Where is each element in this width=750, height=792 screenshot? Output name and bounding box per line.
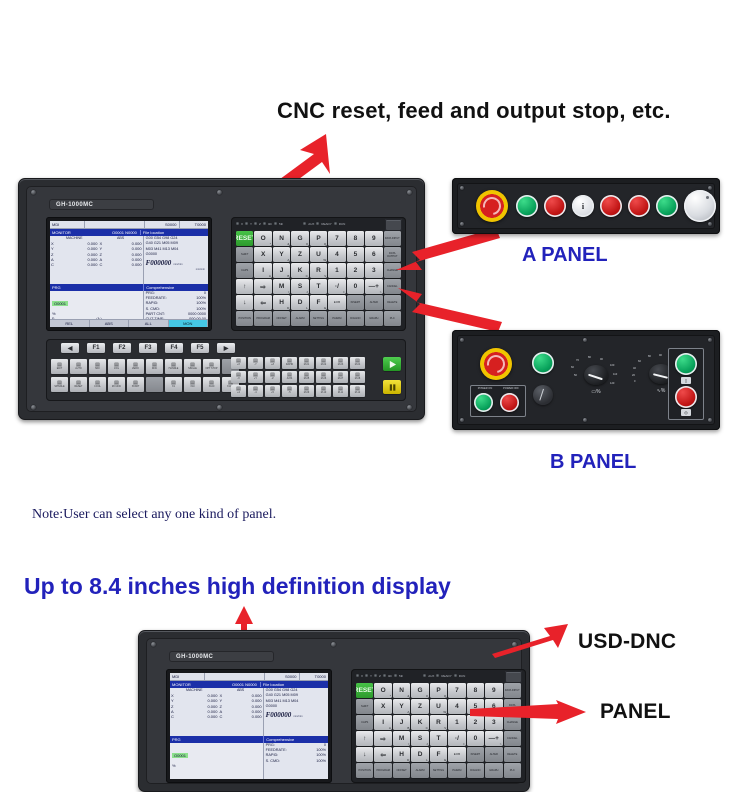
key-t[interactable]: T [310, 279, 327, 294]
info-button[interactable]: i [572, 195, 594, 217]
status-title-label: Comprehensive [146, 285, 174, 290]
key-o[interactable]: O* [374, 683, 391, 698]
key-shift[interactable]: SHIFT [356, 699, 373, 714]
key-label: Z [298, 251, 302, 258]
mfunc-row-mid: ▤M-05▤M-06▤M-07▤M-08 [299, 371, 365, 383]
key-eob[interactable]: EOB [328, 295, 345, 310]
key-insert[interactable]: INSERT [467, 747, 484, 762]
key-label: SPINDLE [54, 386, 64, 389]
key-mdi[interactable]: ▤MDI [89, 359, 106, 374]
key-3[interactable]: 3 [365, 263, 382, 278]
key-0[interactable]: 0 [467, 731, 484, 746]
key-g[interactable]: G# [291, 231, 308, 246]
key-label: 8 [474, 687, 478, 694]
key-diagno[interactable]: DIAGNO [347, 311, 364, 326]
keypad-led-strip: X Y Z 4th 5th AUX READY RUN [236, 220, 401, 227]
key-graph[interactable]: GRAPH [485, 763, 502, 778]
key-o[interactable]: O* [254, 231, 271, 246]
key-g[interactable]: G# [411, 683, 428, 698]
status-label: S. CMD: [266, 759, 280, 764]
fkey-next[interactable]: ▶ [217, 343, 235, 353]
keypad-grid-bottom: RESETO*N&G#PQ789DATA INPUTSHIFTXYAZUW456… [356, 683, 521, 778]
key-label: ALARM [296, 317, 305, 320]
key-reset[interactable]: RESET [236, 231, 253, 246]
key-m-03[interactable]: ▤M-03 [333, 357, 348, 369]
key-offset[interactable]: OFFSET [393, 763, 410, 778]
key-n[interactable]: N& [393, 683, 410, 698]
key-h[interactable]: HD [273, 295, 290, 310]
key-x[interactable]: ▤-X [231, 371, 246, 383]
key-k[interactable]: KC [411, 715, 428, 730]
key-4[interactable]: 4 [328, 247, 345, 262]
key-label: D [418, 751, 423, 758]
screw-b-top-mid [331, 642, 336, 647]
feed-hold-button[interactable] [383, 380, 401, 394]
power-off-label: POWER OFF [499, 387, 523, 390]
power-on-button[interactable] [474, 393, 493, 412]
feed-dial-pointer [653, 373, 668, 378]
key-i[interactable]: IA [374, 715, 391, 730]
key-position[interactable]: POSITION [356, 763, 373, 778]
key-handle[interactable]: ▤HANDLE [165, 359, 182, 374]
key-label: H [279, 299, 284, 306]
mfunc-row-top: ▤M-01▤M-02▤M-03▤M-04 [299, 357, 365, 369]
key-8[interactable]: 8 [467, 683, 484, 698]
key-sublabel: V [444, 726, 446, 730]
fkey-f3[interactable]: F3 [139, 343, 157, 353]
key-label: CAPS [361, 721, 368, 724]
key-[interactable]: ⇦ [254, 295, 271, 310]
machine-value: 0.000 [184, 714, 219, 719]
fkey-f4[interactable]: F4 [165, 343, 183, 353]
screw-panel-b-tm [583, 338, 587, 342]
key-[interactable]: ↓ [356, 747, 373, 762]
key-5[interactable]: ▤+5 [265, 385, 280, 397]
key-alter[interactable]: ALTER [365, 295, 382, 310]
led-label: RUN [339, 222, 346, 226]
reset-button[interactable] [600, 195, 622, 217]
key-m-09[interactable]: ▤M-09 [299, 385, 314, 397]
key-dnc[interactable]: ▤DNC [146, 359, 163, 374]
screw-panel-a-tl [460, 186, 464, 190]
key-5[interactable]: ▤-5 [282, 385, 297, 397]
key-7[interactable]: 7 [328, 231, 345, 246]
usb-dnc-port-bottom[interactable] [505, 671, 522, 683]
rapid-dial-caption: ▭% [570, 389, 622, 395]
lcd-screen: MDI S0000 T0000 MONITOR O0001 N0000 File… [50, 221, 208, 327]
key-s[interactable]: SJ [411, 731, 428, 746]
key-label: G [418, 687, 423, 694]
key-u[interactable]: UW [430, 699, 447, 714]
key-edit[interactable]: ▤EDIT [51, 359, 68, 374]
key-label: ⇨ [380, 735, 385, 743]
mode-row-mid: ▤EDIT▤AUTO▤MDI▤JOG▤ZERO▤DNC▤HANDLE▤SINGL… [51, 359, 239, 374]
key-jog[interactable]: ▤JOG [108, 359, 125, 374]
key-setting[interactable]: SETTING [430, 763, 447, 778]
fkey-row-top: ◀ F1 F2 F3 F4 F5 ▶ [61, 343, 235, 353]
key-data-input[interactable]: DATA INPUT [504, 683, 521, 698]
axis-label: C [218, 714, 231, 719]
mode-row-bot: ▤SPINDLE▤RESET▤COOL▤M FUNC▤START▤X1▤X10▤… [51, 377, 239, 392]
key-m-02[interactable]: ▤M-02 [316, 357, 331, 369]
program-text-bottom: % [170, 763, 263, 768]
key-label: ·/ [335, 283, 339, 290]
key-u[interactable]: UW [310, 247, 327, 262]
key-label: RESET [356, 687, 373, 694]
key-insert[interactable]: INSERT [347, 295, 364, 310]
key-label: M-12 [355, 392, 360, 395]
key-switch[interactable] [533, 385, 553, 405]
led-label: 4th [388, 674, 392, 678]
dial-tick: 110 [613, 373, 617, 376]
info-icon: i [582, 202, 584, 211]
key-alarm[interactable]: ALARM [411, 763, 428, 778]
key-1[interactable]: 1 [328, 263, 345, 278]
key-label: N [279, 235, 284, 242]
key-s[interactable]: SJ [291, 279, 308, 294]
key-m-04[interactable]: ▤M-04 [350, 357, 365, 369]
key-label: 4 [455, 703, 459, 710]
key-label: CAPS [241, 269, 248, 272]
key-label: M [279, 283, 284, 290]
output-stop-button[interactable] [628, 195, 650, 217]
screen-top-bar: MDI S0000 T0000 [50, 221, 208, 229]
key-rapid[interactable]: ▤RAPID [282, 357, 297, 369]
dial-tick: 90 [659, 354, 662, 357]
key-r[interactable]: RV [310, 263, 327, 278]
rapid-override-dial[interactable]: 50 60 70 80 90 100 110 120 ▭% [570, 356, 622, 402]
fkey-f2[interactable]: F2 [113, 343, 131, 353]
key-alarm[interactable]: ALARM [291, 311, 308, 326]
key-sublabel: & [407, 694, 409, 698]
key-label: 9 [372, 235, 376, 242]
key-label: X100 [209, 386, 215, 389]
key-0[interactable]: 0 [347, 279, 364, 294]
led-label: 5th [279, 222, 283, 226]
key-[interactable]: —+> [485, 731, 502, 746]
key-label: U [316, 251, 321, 258]
key-label: ALARM [416, 769, 425, 772]
key-[interactable]: ↑ [236, 279, 253, 294]
panel-b-red-button[interactable] [675, 386, 697, 408]
key-h[interactable]: HD [393, 747, 410, 762]
screw-panel-b-bl [460, 418, 464, 422]
key-delete[interactable]: DELETE [504, 747, 521, 762]
screw-bottom-mid [217, 405, 222, 410]
key-zero[interactable]: ▤ZERO [127, 359, 144, 374]
selector-knob[interactable] [684, 190, 716, 222]
screw-panel-b-bm [583, 418, 587, 422]
key-label: EOB [334, 301, 340, 304]
key-9[interactable]: 9 [485, 683, 502, 698]
key-axis[interactable]: ▤AXIS [282, 371, 297, 383]
key-label: F [317, 299, 321, 306]
screw-panel-b-tr [708, 338, 712, 342]
key-[interactable]: ·/= [328, 279, 345, 294]
key-k[interactable]: KC [291, 263, 308, 278]
key-opt-stop[interactable]: ▤OPT STOP [203, 359, 220, 374]
key-6[interactable]: 6 [365, 247, 382, 262]
key-label: M-11 [338, 392, 343, 395]
key-t[interactable]: T [430, 731, 447, 746]
fkey-prev[interactable]: ◀ [61, 343, 79, 353]
stop-button[interactable] [544, 195, 566, 217]
key-auto[interactable]: ▤AUTO [70, 359, 87, 374]
key-m-10[interactable]: ▤M-10 [316, 385, 331, 397]
key-4[interactable]: ▤-4 [248, 385, 263, 397]
screw-panel-a-br [708, 222, 712, 226]
key-reset[interactable]: ▤RESET [70, 377, 87, 392]
key-m-05[interactable]: ▤M-05 [299, 371, 314, 383]
jog-row-top: ▤+X▤-Y▤+Z▤RAPID [231, 357, 297, 369]
key-sublabel: # [426, 694, 428, 698]
key-z[interactable]: Z [291, 247, 308, 262]
key-label: -4 [254, 392, 256, 395]
key-label: -Y [254, 364, 256, 367]
dial-tick: 0 [634, 380, 635, 383]
key-r[interactable]: RV [430, 715, 447, 730]
key-position[interactable]: POSITION [236, 311, 253, 326]
key-single[interactable]: ▤SINGLE [184, 359, 201, 374]
gcode-panel-bottom: G00 G54 G98 G24 G40 G21 M05 M09 M03 M41 … [263, 688, 328, 736]
key-7[interactable]: 7 [448, 683, 465, 698]
softkey-abs[interactable]: ABS [90, 320, 130, 327]
softkey-rel[interactable]: REL [50, 320, 90, 327]
key-d[interactable]: DL [291, 295, 308, 310]
key-label: M-06 [321, 378, 326, 381]
led-label: X [241, 222, 243, 226]
key-d[interactable]: DL [411, 747, 428, 762]
key-label: O [261, 235, 266, 242]
key-[interactable]: ·/= [448, 731, 465, 746]
start-button[interactable] [516, 195, 538, 217]
key-1[interactable]: 1 [448, 715, 465, 730]
key-program[interactable]: PROGRAM [254, 311, 271, 326]
program-file-name-bottom: O0001 [172, 753, 188, 758]
key-label: 4 [335, 251, 339, 258]
key-y[interactable]: ▤-Y [248, 357, 263, 369]
key-m-07[interactable]: ▤M-07 [333, 371, 348, 383]
lcd-bezel: MDI S0000 T0000 MONITOR O0001 N0000 File… [46, 217, 212, 331]
led-indicator [423, 674, 426, 677]
fkey-f1[interactable]: F1 [87, 343, 105, 353]
key-label: -X [237, 378, 239, 381]
key-label: DELETE [507, 753, 517, 756]
key-label: M-04 [355, 364, 360, 367]
key-alter[interactable]: ALTER [485, 747, 502, 762]
led-indicator [454, 674, 457, 677]
key-label: ⇨ [260, 283, 265, 291]
led-label: Z [379, 674, 381, 678]
panel-b-icon-2: ◎ [681, 409, 691, 416]
key-sublabel: E [324, 306, 326, 310]
operator-panel-b: POWER ON POWER OFF 50 60 70 80 90 100 11… [452, 330, 720, 430]
key-8[interactable]: 8 [347, 231, 364, 246]
key-cool[interactable]: ▤COOL [89, 377, 106, 392]
key-spindle[interactable]: ▤SPINDLE [51, 377, 68, 392]
key-label: F [437, 751, 441, 758]
key-label: M-05 [304, 378, 309, 381]
key-reset[interactable]: RESET [356, 683, 373, 698]
key-shift[interactable]: SHIFT [236, 247, 253, 262]
key-label: OFFSET [396, 769, 406, 772]
key-x1[interactable]: ▤X1 [165, 377, 182, 392]
key-label: S [298, 283, 302, 290]
rapid-dial-knob[interactable] [584, 365, 608, 385]
key-[interactable]: ↓ [236, 295, 253, 310]
key-setting[interactable]: SETTING [310, 311, 327, 326]
key-2[interactable]: 2 [347, 263, 364, 278]
key-y[interactable]: ▤+Y [248, 371, 263, 383]
key-m-func[interactable]: ▤M FUNC [108, 377, 125, 392]
key-y[interactable]: YA [273, 247, 290, 262]
axis-label: C [98, 262, 111, 267]
key-4[interactable]: 4 [448, 699, 465, 714]
mfunc-row-bot: ▤M-09▤M-10▤M-11▤M-12 [299, 385, 365, 397]
key-f[interactable]: FE [310, 295, 327, 310]
key-start[interactable]: ▤START [127, 377, 144, 392]
key-sublabel: A [389, 726, 391, 730]
key-m-01[interactable]: ▤M-01 [299, 357, 314, 369]
key-program[interactable]: PROGRAM [374, 763, 391, 778]
abs-value: 0.000 [111, 262, 142, 267]
key-label: ZERO [132, 368, 139, 371]
led-indicator [316, 222, 319, 225]
key-label: PLC [390, 317, 395, 320]
key-[interactable]: ↑ [356, 731, 373, 746]
dial-tick: 50 [574, 374, 577, 377]
key-sublabel: * [270, 242, 271, 246]
spindle-start-button[interactable] [532, 352, 554, 374]
model-brand-plate-bottom: GH-1000MC [169, 651, 274, 662]
fkey-f5[interactable]: F5 [191, 343, 209, 353]
key-label: SETTING [433, 769, 444, 772]
key-f[interactable]: FE [430, 747, 447, 762]
emergency-stop-button[interactable] [476, 190, 508, 222]
key-x10[interactable]: ▤X10 [184, 377, 201, 392]
key-offset[interactable]: OFFSET [273, 311, 290, 326]
softkey-mon[interactable]: MON [169, 320, 209, 327]
screen-spindle: S0000 [145, 221, 180, 228]
key-label: SETTING [313, 317, 324, 320]
key-p[interactable]: PQ [430, 683, 447, 698]
key-cancel[interactable]: CANCEL [504, 731, 521, 746]
feed-button[interactable] [656, 195, 678, 217]
key-sublabel: D [287, 306, 289, 310]
key-m-12[interactable]: ▤M-12 [350, 385, 365, 397]
key-m[interactable]: MI [393, 731, 410, 746]
key-[interactable]: ⇨ [374, 731, 391, 746]
led-indicator [436, 674, 439, 677]
key-graph[interactable]: GRAPH [365, 311, 382, 326]
status-panel-bottom: PRG:0 FEEDRATE:100% RAPID:100% S. CMD:10… [263, 743, 328, 779]
panel-b-green-button[interactable] [675, 353, 697, 375]
key-i[interactable]: IA [254, 263, 271, 278]
abs-value: 0.000 [231, 714, 262, 719]
dial-tick: 60 [571, 366, 574, 369]
feedrate-value-bottom: F000000 [264, 710, 294, 720]
power-off-button[interactable] [500, 393, 519, 412]
screen-top-bar-bottom: MDI S0000 T0000 [170, 673, 328, 681]
screen-title-left-bottom: MONITOR [172, 682, 191, 687]
status-title-bar-bottom: Comprehensive [263, 736, 328, 743]
dial-tick: 80 [648, 355, 651, 358]
key-j[interactable]: JB [273, 263, 290, 278]
key-y[interactable]: YA [393, 699, 410, 714]
key-z[interactable]: ▤-Z [265, 371, 280, 383]
screw-b-top-left [151, 642, 156, 647]
cycle-start-button[interactable] [383, 357, 401, 371]
jog-row-mid: ▤-X▤+Y▤-Z▤AXIS [231, 371, 297, 383]
label-usb-dnc: USD-DNC [578, 630, 676, 654]
key-sublabel: I [408, 742, 409, 746]
key-param[interactable]: PARAM [328, 311, 345, 326]
key-diagno[interactable]: DIAGNO [467, 763, 484, 778]
key-label: K [418, 719, 423, 726]
key-n[interactable]: N& [273, 231, 290, 246]
led-indicator [383, 674, 386, 677]
key-x100[interactable]: ▤X100 [203, 377, 220, 392]
key-sublabel: A [407, 710, 409, 714]
key-sublabel: A [269, 274, 271, 278]
keypad-grid: RESETO*N&G#PQ789DATA INPUTSHIFTXYAZUW456… [236, 231, 401, 326]
key-p[interactable]: PQ [310, 231, 327, 246]
screen-spindle-bottom: S0000 [265, 673, 300, 680]
softkey-all[interactable]: ALL [129, 320, 169, 327]
key-plc[interactable]: PLC [504, 763, 521, 778]
screw-panel-b-br [708, 418, 712, 422]
key-caps[interactable]: CAPS [236, 263, 253, 278]
key-m-08[interactable]: ▤M-08 [350, 371, 365, 383]
screen-softkey-bar: REL ABS ALL MON [50, 319, 208, 327]
key-[interactable]: —+> [365, 279, 382, 294]
key-label: ↓ [363, 751, 366, 758]
key-label: M-10 [321, 392, 326, 395]
key-4[interactable]: ▤+4 [231, 385, 246, 397]
program-file-name: O0001 [52, 301, 68, 306]
key-eob[interactable]: EOB [448, 747, 465, 762]
key-z[interactable]: Z [411, 699, 428, 714]
key-m-06[interactable]: ▤M-06 [316, 371, 331, 383]
key-sublabel: W [323, 258, 326, 262]
key-m-11[interactable]: ▤M-11 [333, 385, 348, 397]
key-z[interactable]: ▤+Z [265, 357, 280, 369]
screen-title-mid: O0001 N0000 [112, 230, 137, 235]
key-x[interactable]: ▤+X [231, 357, 246, 369]
key-label: M-07 [338, 378, 343, 381]
key-param[interactable]: PARAM [448, 763, 465, 778]
key-[interactable]: ⇨ [254, 279, 271, 294]
feed-unit-bottom: mm/min [293, 715, 302, 720]
key-j[interactable]: JB [393, 715, 410, 730]
key-label: X1 [172, 386, 175, 389]
key-m[interactable]: MI [273, 279, 290, 294]
dial-tick: 70 [576, 359, 579, 362]
key-sublabel: Q [324, 242, 326, 246]
emergency-stop-button-b[interactable] [480, 348, 512, 380]
key-x[interactable]: X [254, 247, 271, 262]
key-x[interactable]: X [374, 699, 391, 714]
dial-tick: 100 [610, 364, 614, 367]
key-caps[interactable]: CAPS [356, 715, 373, 730]
key-5[interactable]: 5 [347, 247, 364, 262]
key-label: T [437, 735, 441, 742]
key-9[interactable]: 9 [365, 231, 382, 246]
keypad-bezel-bottom: X Y Z 4th 5th AUX READY RUN RESETO*N&G#P… [351, 669, 526, 783]
key-label: M [399, 735, 404, 742]
key-[interactable]: ⇦ [374, 747, 391, 762]
key-label: ⇦ [380, 751, 385, 759]
